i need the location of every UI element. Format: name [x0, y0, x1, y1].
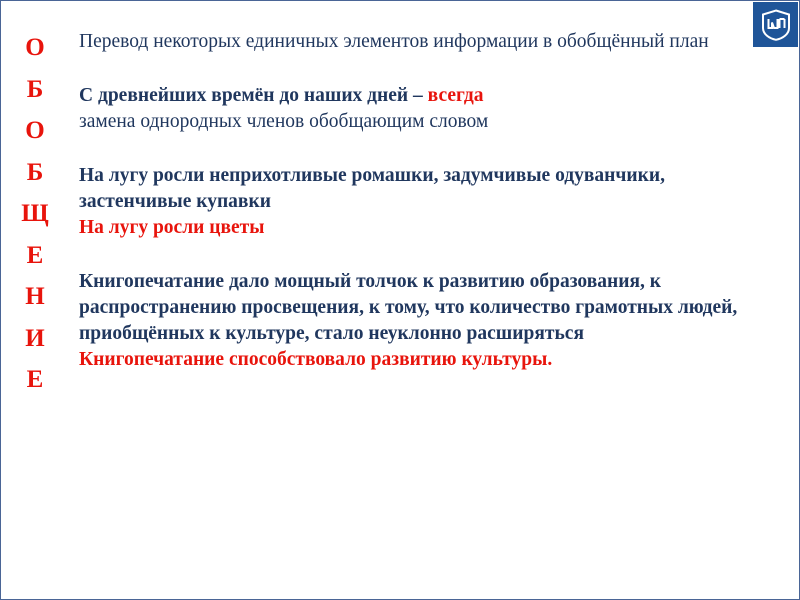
example-meadow-source-line: На лугу росли неприхотливые ромашки, зад… [79, 163, 747, 215]
publisher-shield-logo [753, 2, 798, 47]
vertical-letter: О [25, 110, 44, 152]
vertical-letter: И [25, 318, 44, 360]
example-printing-result-line: Книгопечатание способствовало развитию к… [79, 347, 747, 373]
example-meadow-block: На лугу росли неприхотливые ромашки, зад… [79, 163, 747, 241]
vertical-letter: Н [25, 276, 44, 318]
vertical-letter: Е [27, 359, 44, 401]
example-time-source-line: С древнейших времён до наших дней – всег… [79, 83, 747, 109]
example-meadow-result-line: На лугу росли цветы [79, 215, 747, 241]
vertical-letter: О [25, 27, 44, 69]
vertical-letter: Б [27, 152, 44, 194]
vertical-letter: Щ [21, 193, 48, 235]
example-time-source-text: С древнейших времён до наших дней – [79, 85, 428, 106]
vertical-letter: Б [27, 69, 44, 111]
example-time-rule-line: замена однородных членов обобщающим слов… [79, 109, 747, 135]
vertical-heading-obobschenie: О Б О Б Щ Е Н И Е [9, 27, 61, 401]
slide-canvas: О Б О Б Щ Е Н И Е Перевод некоторых един… [0, 0, 800, 600]
vertical-letter: Е [27, 235, 44, 277]
definition-text: Перевод некоторых единичных элементов ин… [79, 29, 747, 55]
example-printing-block: Книгопечатание дало мощный толчок к разв… [79, 269, 747, 373]
example-time-accent: всегда [428, 85, 484, 106]
slide-body: Перевод некоторых единичных элементов ин… [79, 29, 747, 373]
example-time-block: С древнейших времён до наших дней – всег… [79, 83, 747, 135]
example-printing-source-line: Книгопечатание дало мощный толчок к разв… [79, 269, 747, 347]
definition-block: Перевод некоторых единичных элементов ин… [79, 29, 747, 55]
